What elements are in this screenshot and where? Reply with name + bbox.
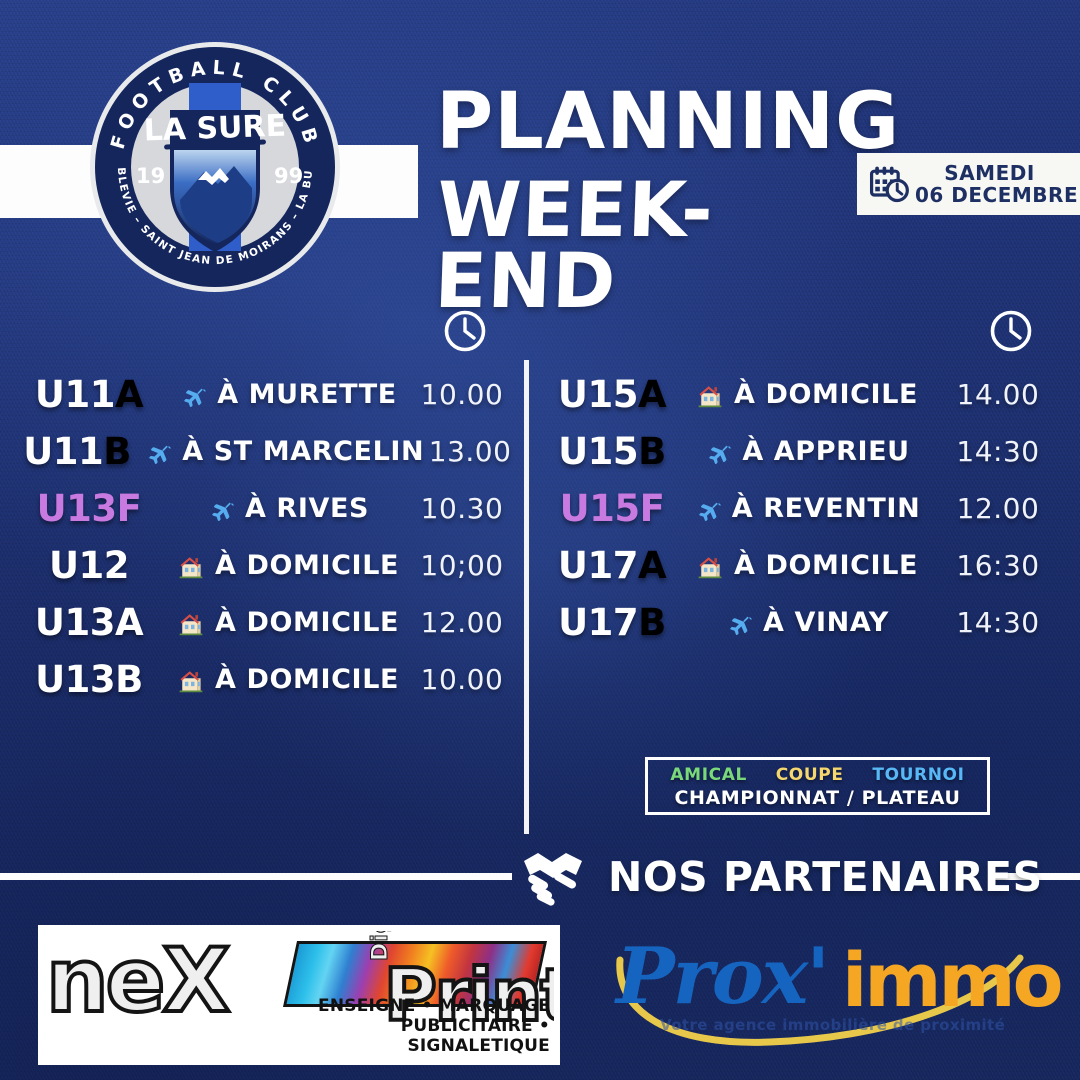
- nextprint-word-nex: neX: [46, 937, 227, 1025]
- match-location: À VINAY: [676, 607, 938, 638]
- match-location-label: À DOMICILE: [215, 550, 399, 581]
- match-location: À APPRIEU: [676, 436, 938, 467]
- match-time: 12.00: [408, 606, 516, 639]
- house-icon: [696, 552, 724, 580]
- legend-coupe: COUPE: [776, 765, 844, 785]
- team-label: U15F: [548, 487, 676, 530]
- legend-box: AMICAL COUPE TOURNOI CHAMPIONNAT / PLATE…: [645, 757, 990, 815]
- house-icon: [177, 666, 205, 694]
- match-time: 16:30: [938, 549, 1058, 582]
- team-label: U17B: [548, 601, 676, 644]
- match-time: 10;00: [408, 549, 516, 582]
- handshake-icon: [520, 845, 586, 907]
- schedule-row: U15BÀ APPRIEU14:30: [548, 423, 1058, 480]
- team-label: U11B: [10, 430, 144, 473]
- match-location-label: À RIVES: [245, 493, 369, 524]
- match-location-label: À DOMICILE: [734, 379, 918, 410]
- team-base: U17: [558, 601, 638, 644]
- match-location: À DOMICILE: [676, 379, 938, 410]
- team-base: U15: [558, 430, 638, 473]
- legend-row-championnat: CHAMPIONNAT / PLATEAU: [656, 787, 979, 809]
- team-base: U13: [35, 601, 115, 644]
- club-crest-logo: LA SURE FOOTBALL CLUB COUBLEVIE – SAINT …: [88, 40, 342, 294]
- team-base: U11: [35, 373, 115, 416]
- match-time: 14:30: [938, 606, 1058, 639]
- partners-divider-left: [0, 873, 512, 880]
- legend-amical: AMICAL: [670, 765, 746, 785]
- match-location-label: À REVENTIN: [732, 493, 921, 524]
- team-base: U17: [558, 544, 638, 587]
- partner-logo-nextprint[interactable]: neX Digital Print ENSEIGNE • MARQUAGE PU…: [38, 925, 560, 1065]
- legend-tournoi: TOURNOI: [872, 765, 964, 785]
- schedule-row: U15AÀ DOMICILE14.00: [548, 366, 1058, 423]
- team-label: U15A: [548, 373, 676, 416]
- schedule-row: U13BÀ DOMICILE10.00: [10, 651, 516, 708]
- date-badge-day: SAMEDI: [915, 162, 1078, 184]
- airplane-icon: [725, 609, 753, 637]
- team-category-suffix: A: [638, 544, 666, 587]
- legend-row-categories: AMICAL COUPE TOURNOI: [656, 765, 979, 785]
- match-location: À DOMICILE: [168, 607, 408, 638]
- schedule-column-left: U11AÀ MURETTE10.00U11BÀ ST MARCELIN13.00…: [10, 366, 516, 708]
- house-icon: [177, 552, 205, 580]
- schedule-row: U13FÀ RIVES10.30: [10, 480, 516, 537]
- house-icon: [696, 381, 724, 409]
- schedule-column-right: U15AÀ DOMICILE14.00U15BÀ APPRIEU14:30U15…: [548, 366, 1058, 651]
- team-base: U13F: [37, 487, 142, 530]
- match-location-label: À DOMICILE: [215, 664, 399, 695]
- date-badge: SAMEDI 06 DECEMBRE: [857, 153, 1080, 215]
- match-location: À DOMICILE: [168, 550, 408, 581]
- team-category-suffix: B: [103, 430, 131, 473]
- proximmo-word-prox: Prox': [616, 938, 828, 1016]
- schedule-row: U11BÀ ST MARCELIN13.00: [10, 423, 516, 480]
- team-base: U15F: [560, 487, 665, 530]
- partners-title: NOS PARTENAIRES: [608, 853, 1043, 901]
- airplane-icon: [144, 438, 172, 466]
- crest-svg: LA SURE FOOTBALL CLUB COUBLEVIE – SAINT …: [88, 40, 342, 294]
- match-time: 14.00: [938, 378, 1058, 411]
- match-location-label: À DOMICILE: [734, 550, 918, 581]
- clock-icon-right-column: [988, 308, 1034, 354]
- title-line-1: PLANNING: [436, 86, 866, 159]
- team-label: U13B: [10, 658, 168, 701]
- nextprint-tagline: ENSEIGNE • MARQUAGE PUBLICITAIRE • SIGNA…: [258, 996, 550, 1056]
- house-icon: [177, 609, 205, 637]
- legend-championnat: CHAMPIONNAT / PLATEAU: [674, 787, 960, 809]
- airplane-icon: [704, 438, 732, 466]
- match-location-label: À MURETTE: [217, 379, 397, 410]
- team-label: U17A: [548, 544, 676, 587]
- match-time: 10.00: [408, 663, 516, 696]
- team-base: U11: [23, 430, 103, 473]
- airplane-icon: [207, 495, 235, 523]
- partner-logo-proximmo[interactable]: Prox' immo Votre agence immobilière de p…: [610, 930, 1030, 1055]
- airplane-icon: [179, 381, 207, 409]
- team-category-suffix: B: [115, 658, 143, 701]
- match-location: À DOMICILE: [168, 664, 408, 695]
- proximmo-word-immo: immo: [842, 944, 1060, 1018]
- match-location: À DOMICILE: [676, 550, 938, 581]
- page-title: PLANNING WEEK-END: [436, 86, 866, 316]
- team-category-suffix: A: [115, 601, 143, 644]
- match-location-label: À APPRIEU: [742, 436, 909, 467]
- team-category-suffix: B: [638, 601, 666, 644]
- match-location: À ST MARCELIN: [144, 436, 424, 467]
- team-base: U12: [49, 544, 129, 587]
- airplane-icon: [694, 495, 722, 523]
- schedule-row: U17BÀ VINAY14:30: [548, 594, 1058, 651]
- team-label: U12: [10, 544, 168, 587]
- team-category-suffix: A: [638, 373, 666, 416]
- proximmo-tagline: Votre agence immobilière de proximité: [660, 1016, 1005, 1034]
- match-time: 12.00: [938, 492, 1058, 525]
- calendar-clock-icon: [867, 162, 911, 206]
- match-location: À RIVES: [168, 493, 408, 524]
- schedule-row: U12À DOMICILE10;00: [10, 537, 516, 594]
- date-badge-text: SAMEDI 06 DECEMBRE: [915, 162, 1078, 207]
- title-line-2: WEEK-END: [434, 175, 869, 316]
- clock-icon-left-column: [442, 308, 488, 354]
- team-base: U15: [558, 373, 638, 416]
- team-label: U11A: [10, 373, 168, 416]
- team-label: U13A: [10, 601, 168, 644]
- match-location: À MURETTE: [168, 379, 408, 410]
- match-location-label: À VINAY: [763, 607, 889, 638]
- match-time: 13.00: [424, 435, 516, 468]
- schedule-row: U15FÀ REVENTIN12.00: [548, 480, 1058, 537]
- svg-text:19: 19: [136, 164, 165, 188]
- match-time: 14:30: [938, 435, 1058, 468]
- team-label: U13F: [10, 487, 168, 530]
- team-base: U13: [35, 658, 115, 701]
- match-time: 10.30: [408, 492, 516, 525]
- schedule-row: U11AÀ MURETTE10.00: [10, 366, 516, 423]
- match-time: 10.00: [408, 378, 516, 411]
- team-category-suffix: A: [115, 373, 143, 416]
- date-badge-date: 06 DECEMBRE: [915, 184, 1078, 206]
- match-location-label: À ST MARCELIN: [182, 436, 424, 467]
- svg-text:LA SURE: LA SURE: [143, 109, 286, 149]
- schedule-row: U17AÀ DOMICILE16:30: [548, 537, 1058, 594]
- team-label: U15B: [548, 430, 676, 473]
- schedule-row: U13AÀ DOMICILE12.00: [10, 594, 516, 651]
- match-location: À REVENTIN: [676, 493, 938, 524]
- match-location-label: À DOMICILE: [215, 607, 399, 638]
- team-category-suffix: B: [638, 430, 666, 473]
- column-divider: [524, 360, 529, 834]
- svg-text:99: 99: [274, 164, 303, 188]
